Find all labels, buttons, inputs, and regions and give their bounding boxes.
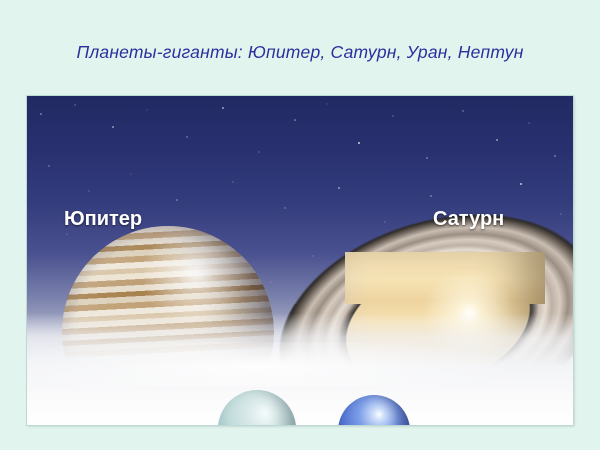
label-jupiter: Юпитер bbox=[64, 208, 142, 231]
page-title: Планеты-гиганты: Юпитер, Сатурн, Уран, Н… bbox=[0, 42, 600, 63]
planets-image-panel: Юпитер Сатурн Уран Нептун Земля Плутон bbox=[27, 96, 573, 425]
label-saturn: Сатурн bbox=[433, 208, 504, 231]
ground-surface bbox=[27, 313, 573, 425]
